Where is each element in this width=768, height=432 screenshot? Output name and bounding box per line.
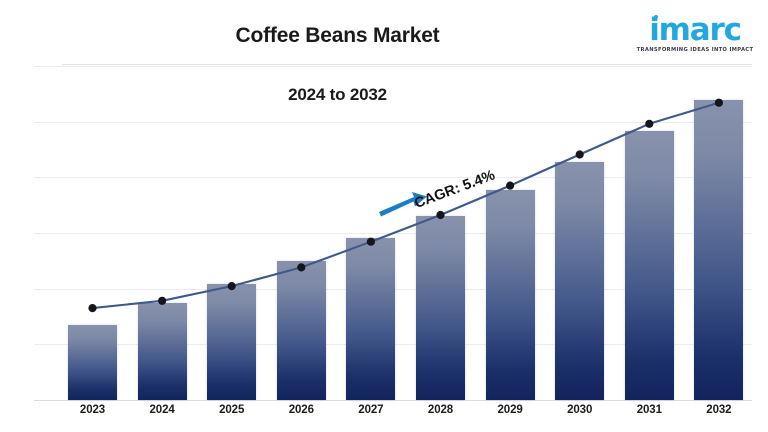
x-tick-2027: 2027 xyxy=(336,404,406,416)
bar-2029[interactable] xyxy=(486,190,535,400)
chart-page: Coffee Beans Market 2024 to 2032 imarc T… xyxy=(0,0,768,432)
x-tick-2024: 2024 xyxy=(127,404,197,416)
x-tick-2032: 2032 xyxy=(684,404,754,416)
chart-plot-area: 2023202420252026202720282029203020312032 xyxy=(0,0,768,432)
bar-2026[interactable] xyxy=(277,261,326,400)
bar-2030[interactable] xyxy=(555,162,604,400)
bar-2028[interactable] xyxy=(416,216,465,400)
bar-2024[interactable] xyxy=(138,303,187,400)
x-tick-2030: 2030 xyxy=(545,404,615,416)
bar-2032[interactable] xyxy=(694,100,743,400)
x-tick-2031: 2031 xyxy=(614,404,684,416)
bar-2025[interactable] xyxy=(207,284,256,400)
gridline xyxy=(34,122,752,123)
x-tick-2023: 2023 xyxy=(58,404,128,416)
x-tick-2026: 2026 xyxy=(266,404,336,416)
x-axis-baseline xyxy=(34,400,752,401)
x-tick-2025: 2025 xyxy=(197,404,267,416)
x-tick-2028: 2028 xyxy=(406,404,476,416)
bar-2023[interactable] xyxy=(68,325,117,400)
bar-2027[interactable] xyxy=(346,238,395,400)
gridline xyxy=(34,66,752,67)
bar-2031[interactable] xyxy=(625,131,674,400)
x-tick-2029: 2029 xyxy=(475,404,545,416)
